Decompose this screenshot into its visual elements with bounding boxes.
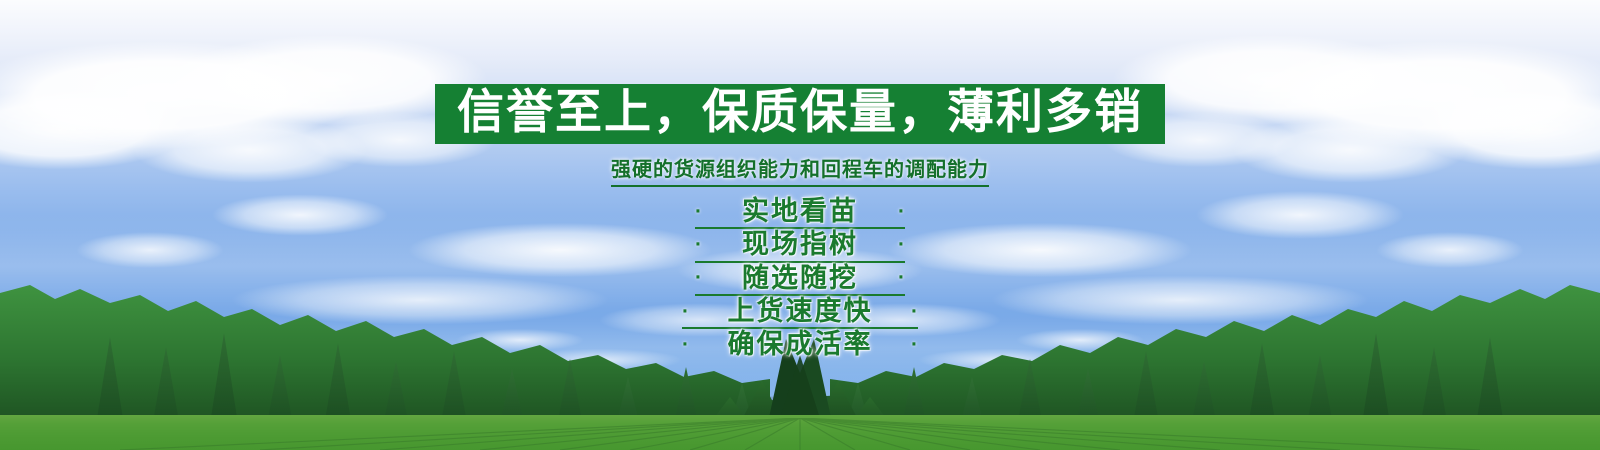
bullet-dot-icon: ·: [682, 334, 689, 355]
feature-label: 随选随挖: [702, 264, 898, 292]
feature-row: · 随选随挖 ·: [695, 263, 905, 296]
feature-row: · 确保成活率 ·: [682, 329, 918, 360]
bullet-dot-icon: ·: [898, 234, 905, 255]
banner-content: 信誉至上，保质保量，薄利多销 强硬的货源组织能力和回程车的调配能力 · 实地看苗…: [0, 0, 1600, 450]
feature-row: · 上货速度快 ·: [682, 296, 918, 329]
bullet-dot-icon: ·: [695, 234, 702, 255]
headline-bar: 信誉至上，保质保量，薄利多销: [435, 84, 1165, 144]
feature-label: 现场指树: [702, 230, 898, 258]
feature-label: 确保成活率: [689, 330, 911, 358]
subheadline-text: 强硬的货源组织能力和回程车的调配能力: [611, 153, 989, 187]
feature-list: · 实地看苗 · · 现场指树 · · 随选随挖 · · 上货速度快 · ·: [682, 196, 918, 361]
feature-row: · 现场指树 ·: [695, 229, 905, 262]
bullet-dot-icon: ·: [911, 334, 918, 355]
bullet-dot-icon: ·: [695, 201, 702, 222]
bullet-dot-icon: ·: [911, 301, 918, 322]
feature-row: · 实地看苗 ·: [695, 196, 905, 229]
feature-label: 上货速度快: [689, 297, 911, 325]
promo-banner: 信誉至上，保质保量，薄利多销 强硬的货源组织能力和回程车的调配能力 · 实地看苗…: [0, 0, 1600, 450]
bullet-dot-icon: ·: [898, 267, 905, 288]
bullet-dot-icon: ·: [898, 201, 905, 222]
feature-label: 实地看苗: [702, 197, 898, 225]
bullet-dot-icon: ·: [682, 301, 689, 322]
headline-text: 信誉至上，保质保量，薄利多销: [457, 88, 1143, 136]
bullet-dot-icon: ·: [695, 267, 702, 288]
